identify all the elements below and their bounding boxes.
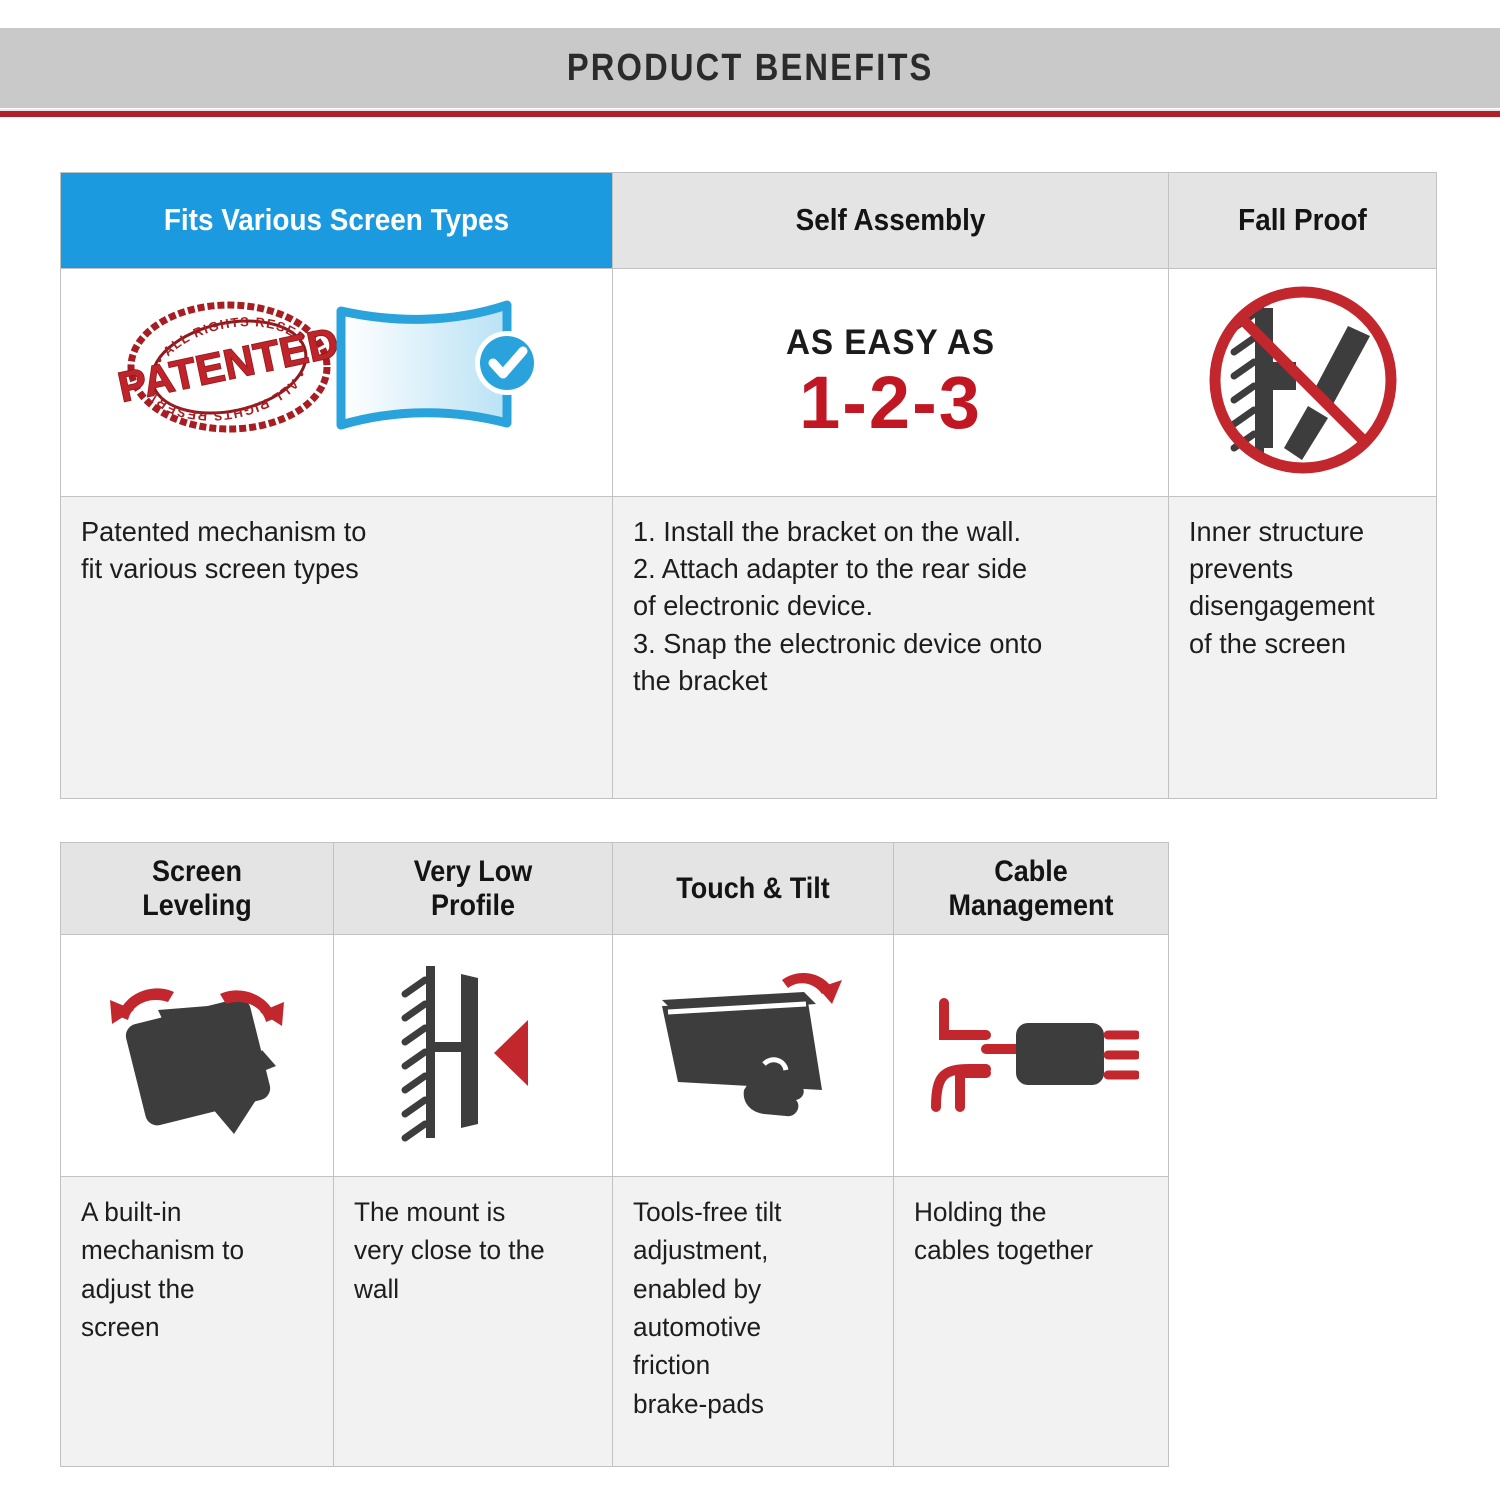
page-title: PRODUCT BENEFITS bbox=[567, 47, 934, 90]
header-label: Fits Various Screen Types bbox=[98, 203, 576, 238]
description-text: Patented mechanism to fit various screen… bbox=[81, 513, 579, 587]
description-text: A built-in mechanism to adjust the scree… bbox=[81, 1193, 308, 1346]
description-text: Tools-free tilt adjustment, enabled by a… bbox=[633, 1193, 868, 1423]
description-text: Inner structure prevents disengagement o… bbox=[1189, 513, 1411, 662]
column-header-fits-various-screen-types[interactable]: Fits Various Screen Types bbox=[61, 173, 613, 269]
benefits-table-secondary: Screen Leveling Very Low Profile Touch &… bbox=[60, 842, 1169, 1467]
icon-cell-screen-leveling bbox=[61, 935, 334, 1177]
page-header-banner: PRODUCT BENEFITS bbox=[0, 28, 1500, 108]
screen-leveling-rotate-icon bbox=[90, 958, 305, 1148]
column-header-fall-proof[interactable]: Fall Proof bbox=[1169, 173, 1437, 269]
icon-cell-touch-and-tilt bbox=[613, 935, 894, 1177]
description-cell-self-assembly: 1. Install the bracket on the wall. 2. A… bbox=[613, 497, 1169, 799]
header-label: Touch & Tilt bbox=[636, 872, 870, 906]
benefits-table-primary: Fits Various Screen Types Self Assembly … bbox=[60, 172, 1437, 799]
table-row: • ALL RIGHTS RESERVED • • ALL RIGHTS RES… bbox=[61, 269, 1437, 497]
description-cell-very-low-profile: The mount is very close to the wall bbox=[334, 1177, 613, 1467]
cable-management-icon bbox=[924, 973, 1139, 1133]
icon-cell-self-assembly: AS EASY AS 1-2-3 bbox=[613, 269, 1169, 497]
patented-stamp-screen-check-icon: • ALL RIGHTS RESERVED • • ALL RIGHTS RES… bbox=[117, 285, 557, 475]
description-text: 1. Install the bracket on the wall. 2. A… bbox=[633, 513, 1134, 699]
description-cell-fits-various-screen-types: Patented mechanism to fit various screen… bbox=[61, 497, 613, 799]
column-header-cable-management[interactable]: Cable Management bbox=[894, 843, 1169, 935]
icon-cell-very-low-profile bbox=[334, 935, 613, 1177]
header-red-rule bbox=[0, 109, 1500, 117]
header-label: Self Assembly bbox=[650, 203, 1132, 238]
header-label: Fall Proof bbox=[1191, 203, 1413, 238]
table-row: A built-in mechanism to adjust the scree… bbox=[61, 1177, 1169, 1467]
column-header-self-assembly[interactable]: Self Assembly bbox=[613, 173, 1169, 269]
column-header-very-low-profile[interactable]: Very Low Profile bbox=[334, 843, 613, 935]
table-row: Screen Leveling Very Low Profile Touch &… bbox=[61, 843, 1169, 935]
one-two-three-label: 1-2-3 bbox=[619, 366, 1162, 440]
table-row: Fits Various Screen Types Self Assembly … bbox=[61, 173, 1437, 269]
as-easy-as-label: AS EASY AS bbox=[633, 325, 1149, 360]
description-text: Holding the cables together bbox=[914, 1193, 1143, 1270]
description-cell-touch-and-tilt: Tools-free tilt adjustment, enabled by a… bbox=[613, 1177, 894, 1467]
touch-tilt-hand-icon bbox=[646, 958, 861, 1148]
header-label: Cable Management bbox=[917, 855, 1146, 922]
icon-cell-fall-proof bbox=[1169, 269, 1437, 497]
column-header-screen-leveling[interactable]: Screen Leveling bbox=[61, 843, 334, 935]
header-label: Screen Leveling bbox=[84, 855, 311, 922]
description-cell-fall-proof: Inner structure prevents disengagement o… bbox=[1169, 497, 1437, 799]
header-label: Very Low Profile bbox=[357, 855, 589, 922]
as-easy-as-123-icon: AS EASY AS 1-2-3 bbox=[619, 325, 1162, 440]
table-row: Patented mechanism to fit various screen… bbox=[61, 497, 1437, 799]
no-fall-prohibition-icon bbox=[1198, 278, 1408, 483]
icon-cell-cable-management bbox=[894, 935, 1169, 1177]
description-cell-cable-management: Holding the cables together bbox=[894, 1177, 1169, 1467]
low-profile-wall-icon bbox=[386, 958, 561, 1148]
column-header-touch-and-tilt[interactable]: Touch & Tilt bbox=[613, 843, 894, 935]
icon-cell-fits-various-screen-types: • ALL RIGHTS RESERVED • • ALL RIGHTS RES… bbox=[61, 269, 613, 497]
table-row bbox=[61, 935, 1169, 1177]
description-cell-screen-leveling: A built-in mechanism to adjust the scree… bbox=[61, 1177, 334, 1467]
description-text: The mount is very close to the wall bbox=[354, 1193, 587, 1308]
